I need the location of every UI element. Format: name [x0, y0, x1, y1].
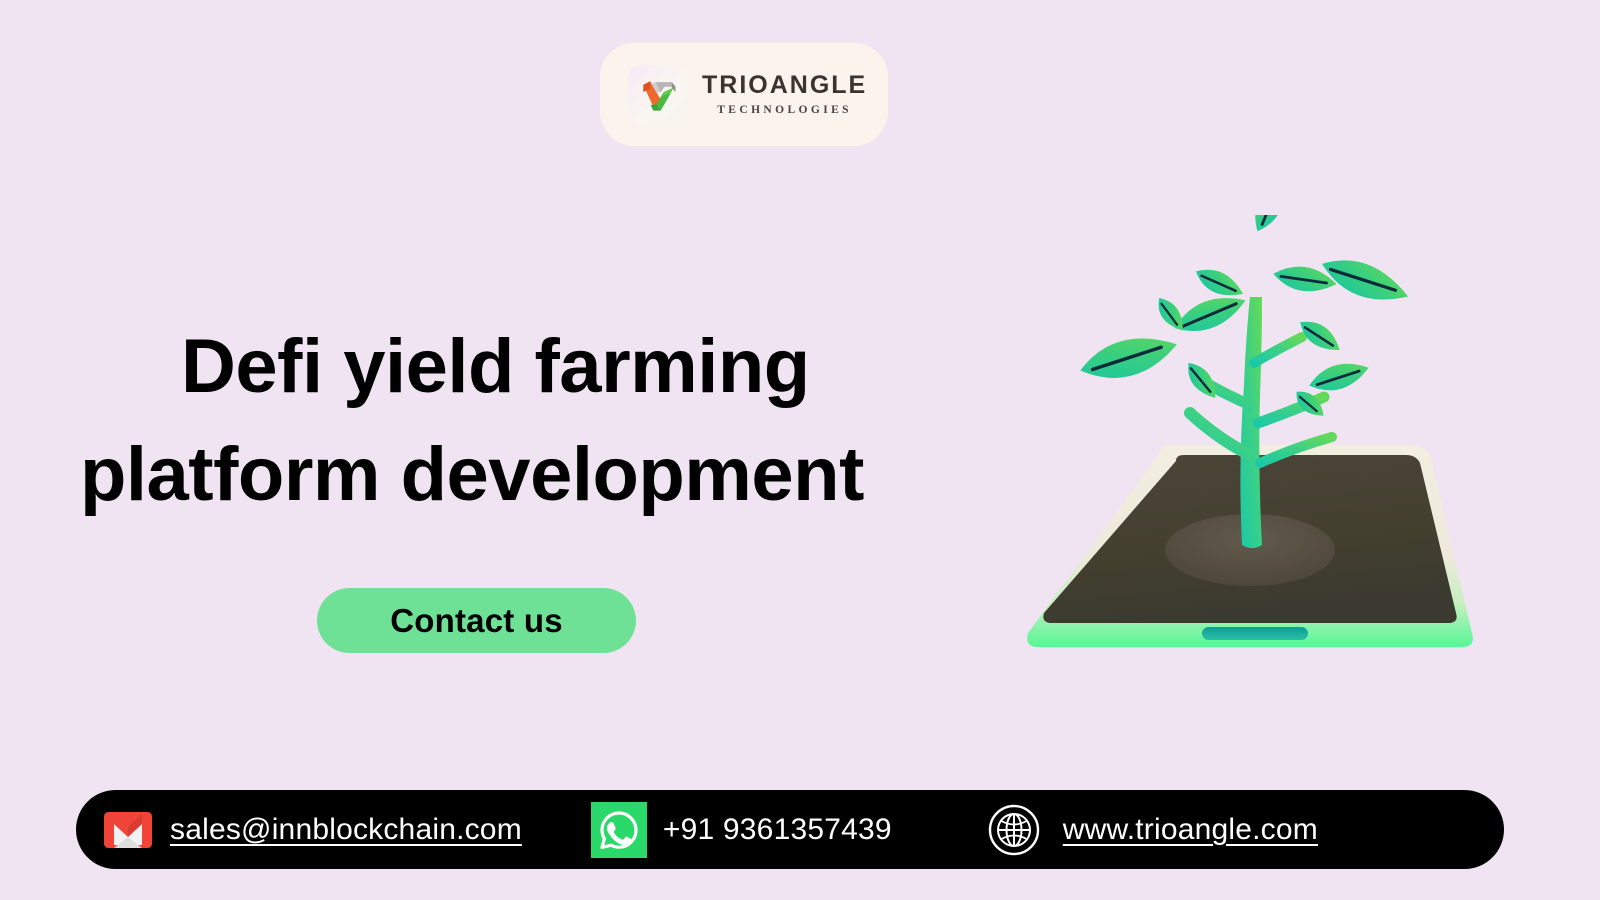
brand-logo-badge: TRIOANGLE TECHNOLOGIES: [600, 43, 888, 146]
trioangle-triangle-logo-icon: [628, 65, 688, 125]
page-title-line-2: platform development: [78, 421, 978, 529]
footer-website-label[interactable]: www.trioangle.com: [1063, 813, 1318, 847]
smartphone-with-growing-plant-illustration: [1010, 215, 1490, 685]
gmail-icon: [102, 804, 154, 856]
contact-us-button[interactable]: Contact us: [317, 588, 636, 653]
globe-icon: [987, 803, 1041, 857]
footer-email-item[interactable]: sales@innblockchain.com: [76, 790, 522, 869]
contact-footer-bar: sales@innblockchain.com +91 9361357439 w: [76, 790, 1504, 869]
footer-website-item[interactable]: www.trioangle.com: [892, 790, 1318, 869]
brand-name: TRIOANGLE: [702, 73, 867, 98]
brand-tagline: TECHNOLOGIES: [717, 105, 852, 117]
whatsapp-icon: [591, 802, 647, 858]
footer-phone-item[interactable]: +91 9361357439: [522, 790, 892, 869]
footer-email-label[interactable]: sales@innblockchain.com: [170, 813, 522, 847]
page-title: Defi yield farming platform development: [78, 313, 978, 529]
brand-wordmark: TRIOANGLE TECHNOLOGIES: [702, 73, 867, 117]
footer-phone-label[interactable]: +91 9361357439: [663, 813, 892, 847]
page-title-line-1: Defi yield farming: [78, 313, 978, 421]
